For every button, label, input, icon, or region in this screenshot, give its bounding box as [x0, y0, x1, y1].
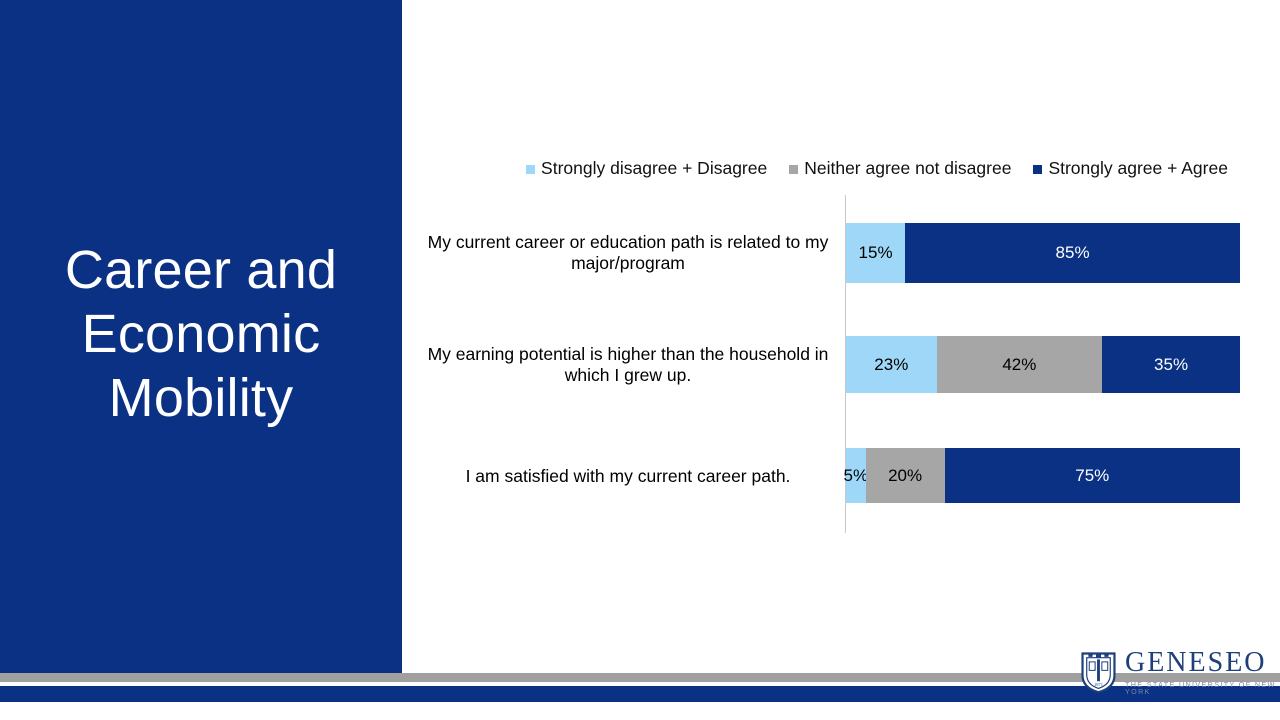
geneseo-shield-crest-icon: 1871: [1080, 646, 1117, 698]
logo-name: GENESEO: [1125, 649, 1276, 677]
bar-segment[interactable]: 75%: [945, 448, 1241, 503]
bar-segment[interactable]: 5%: [846, 448, 866, 503]
title-panel: Career and Economic Mobility: [0, 0, 402, 673]
bar-segment-label: 5%: [844, 466, 869, 486]
chart-bar-row: My current career or education path is r…: [402, 223, 1280, 283]
logo-tagline: THE STATE UNIVERSITY OF NEW YORK: [1125, 681, 1276, 695]
bar-segment-label: 75%: [1075, 466, 1109, 486]
category-label: My earning potential is higher than the …: [420, 344, 836, 386]
bar-segment[interactable]: 23%: [846, 336, 937, 393]
bar-segment-label: 85%: [1056, 243, 1090, 263]
bar-segment[interactable]: 15%: [846, 223, 905, 283]
geneseo-logo: 1871 GENESEO THE STATE UNIVERSITY OF NEW…: [1080, 644, 1276, 700]
bar-segment-label: 23%: [874, 355, 908, 375]
slide-canvas: Career and Economic Mobility Strongly di…: [0, 0, 1280, 720]
chart-plot-area: My current career or education path is r…: [402, 0, 1280, 673]
logo-wordmark: GENESEO THE STATE UNIVERSITY OF NEW YORK: [1125, 649, 1276, 695]
bar-segment-label: 15%: [859, 243, 893, 263]
crest-year: 1871: [1094, 682, 1103, 687]
bar-segment-label: 20%: [888, 466, 922, 486]
stacked-bar-chart: Strongly disagree + DisagreeNeither agre…: [402, 0, 1280, 673]
bar-segment-label: 42%: [1002, 355, 1036, 375]
category-label: My current career or education path is r…: [420, 232, 836, 274]
chart-bar-row: I am satisfied with my current career pa…: [402, 448, 1280, 503]
chart-bar-row: My earning potential is higher than the …: [402, 336, 1280, 393]
bar-segment[interactable]: 35%: [1102, 336, 1240, 393]
bar-track: 5%20%75%: [846, 448, 1240, 503]
bar-track: 23%42%35%: [846, 336, 1240, 393]
bar-segment[interactable]: 42%: [937, 336, 1102, 393]
page-title: Career and Economic Mobility: [0, 238, 402, 430]
bar-track: 15%85%: [846, 223, 1240, 283]
bar-segment[interactable]: 85%: [905, 223, 1240, 283]
bar-segment[interactable]: 20%: [866, 448, 945, 503]
category-label: I am satisfied with my current career pa…: [420, 466, 836, 487]
bar-segment-label: 35%: [1154, 355, 1188, 375]
